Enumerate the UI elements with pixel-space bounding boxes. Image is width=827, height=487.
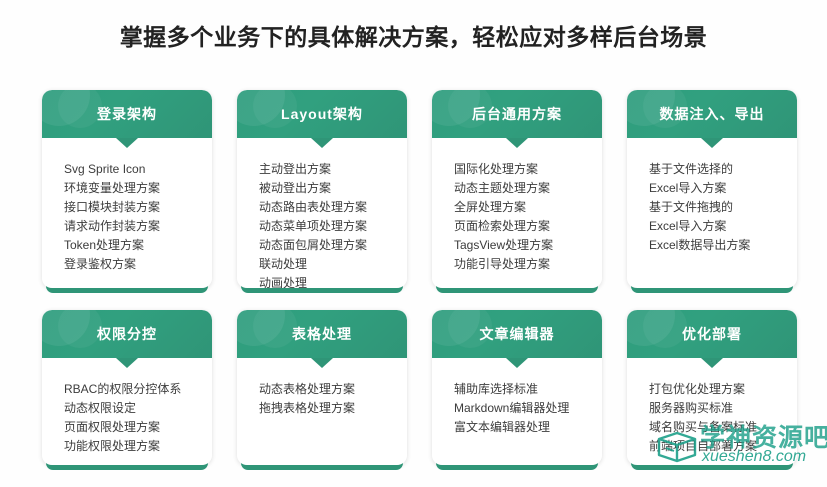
header-notch-icon xyxy=(311,138,333,148)
card-list-item: Token处理方案 xyxy=(64,236,212,255)
solution-card[interactable]: Layout架构主动登出方案被动登出方案动态路由表处理方案动态菜单项处理方案动态… xyxy=(237,90,407,288)
header-notch-icon xyxy=(116,138,138,148)
card-list-item: 动态面包屑处理方案 xyxy=(259,236,407,255)
card-list-item: 辅助库选择标准 xyxy=(454,380,602,399)
solution-card[interactable]: 登录架构Svg Sprite Icon环境变量处理方案接口模块封装方案请求动作封… xyxy=(42,90,212,288)
card-list-item: Excel数据导出方案 xyxy=(649,236,797,255)
solution-card[interactable]: 表格处理动态表格处理方案拖拽表格处理方案 xyxy=(237,310,407,465)
solution-card[interactable]: 文章编辑器辅助库选择标准Markdown编辑器处理富文本编辑器处理 xyxy=(432,310,602,465)
card-header: 后台通用方案 xyxy=(432,90,602,138)
card-list-item: 富文本编辑器处理 xyxy=(454,418,602,437)
card-list-item: 页面检索处理方案 xyxy=(454,217,602,236)
header-notch-icon xyxy=(506,358,528,368)
header-notch-icon xyxy=(701,138,723,148)
card-inner: 数据注入、导出基于文件选择的Excel导入方案基于文件拖拽的Excel导入方案E… xyxy=(627,90,797,288)
card-list-item: 服务器购买标准 xyxy=(649,399,797,418)
card-list-item: 全屏处理方案 xyxy=(454,198,602,217)
card-list-item: 动态权限设定 xyxy=(64,399,212,418)
header-notch-icon xyxy=(116,358,138,368)
card-list-item: 登录鉴权方案 xyxy=(64,255,212,274)
card-grid: 登录架构Svg Sprite Icon环境变量处理方案接口模块封装方案请求动作封… xyxy=(42,90,787,465)
card-list-item: 接口模块封装方案 xyxy=(64,198,212,217)
card-list-item: 被动登出方案 xyxy=(259,179,407,198)
card-body: 主动登出方案被动登出方案动态路由表处理方案动态菜单项处理方案动态面包屑处理方案联… xyxy=(237,138,407,288)
card-list-item: 基于文件拖拽的 xyxy=(649,198,797,217)
card-header: 文章编辑器 xyxy=(432,310,602,358)
card-list-item: 主动登出方案 xyxy=(259,160,407,179)
card-list-item: 拖拽表格处理方案 xyxy=(259,399,407,418)
solution-card[interactable]: 数据注入、导出基于文件选择的Excel导入方案基于文件拖拽的Excel导入方案E… xyxy=(627,90,797,288)
card-list-item: 国际化处理方案 xyxy=(454,160,602,179)
card-list-item: 页面权限处理方案 xyxy=(64,418,212,437)
card-list-item: 基于文件选择的 xyxy=(649,160,797,179)
card-title: 后台通用方案 xyxy=(432,90,602,138)
card-list-item: 域名购买与备案标准 xyxy=(649,418,797,437)
card-list-item: 动画处理 xyxy=(259,274,407,288)
card-title: 权限分控 xyxy=(42,310,212,358)
card-inner: Layout架构主动登出方案被动登出方案动态路由表处理方案动态菜单项处理方案动态… xyxy=(237,90,407,288)
card-title: 登录架构 xyxy=(42,90,212,138)
card-list-item: Excel导入方案 xyxy=(649,179,797,198)
card-header: 登录架构 xyxy=(42,90,212,138)
card-list-item: 功能权限处理方案 xyxy=(64,437,212,456)
card-inner: 后台通用方案国际化处理方案动态主题处理方案全屏处理方案页面检索处理方案TagsV… xyxy=(432,90,602,288)
card-list-item: TagsView处理方案 xyxy=(454,236,602,255)
card-body: 打包优化处理方案服务器购买标准域名购买与备案标准前端项目自部署方案 xyxy=(627,358,797,456)
card-list-item: 请求动作封装方案 xyxy=(64,217,212,236)
card-body: Svg Sprite Icon环境变量处理方案接口模块封装方案请求动作封装方案T… xyxy=(42,138,212,274)
card-inner: 权限分控RBAC的权限分控体系动态权限设定页面权限处理方案功能权限处理方案 xyxy=(42,310,212,465)
card-title: 优化部署 xyxy=(627,310,797,358)
card-list-item: Svg Sprite Icon xyxy=(64,160,212,179)
card-inner: 文章编辑器辅助库选择标准Markdown编辑器处理富文本编辑器处理 xyxy=(432,310,602,465)
card-list-item: 功能引导处理方案 xyxy=(454,255,602,274)
card-list-item: 联动处理 xyxy=(259,255,407,274)
card-list-item: 前端项目自部署方案 xyxy=(649,437,797,456)
card-title: 表格处理 xyxy=(237,310,407,358)
card-list-item: Markdown编辑器处理 xyxy=(454,399,602,418)
solution-card[interactable]: 优化部署打包优化处理方案服务器购买标准域名购买与备案标准前端项目自部署方案 xyxy=(627,310,797,465)
card-header: 优化部署 xyxy=(627,310,797,358)
card-list-item: 动态主题处理方案 xyxy=(454,179,602,198)
card-title: 数据注入、导出 xyxy=(627,90,797,138)
header-notch-icon xyxy=(506,138,528,148)
card-header: 权限分控 xyxy=(42,310,212,358)
infographic-page: 掌握多个业务下的具体解决方案，轻松应对多样后台场景 登录架构Svg Sprite… xyxy=(0,0,827,487)
card-header: Layout架构 xyxy=(237,90,407,138)
card-list-item: 动态菜单项处理方案 xyxy=(259,217,407,236)
header-notch-icon xyxy=(311,358,333,368)
card-inner: 优化部署打包优化处理方案服务器购买标准域名购买与备案标准前端项目自部署方案 xyxy=(627,310,797,465)
card-list-item: RBAC的权限分控体系 xyxy=(64,380,212,399)
solution-card[interactable]: 权限分控RBAC的权限分控体系动态权限设定页面权限处理方案功能权限处理方案 xyxy=(42,310,212,465)
card-inner: 表格处理动态表格处理方案拖拽表格处理方案 xyxy=(237,310,407,465)
header-notch-icon xyxy=(701,358,723,368)
card-header: 数据注入、导出 xyxy=(627,90,797,138)
card-title: Layout架构 xyxy=(237,90,407,138)
card-body: RBAC的权限分控体系动态权限设定页面权限处理方案功能权限处理方案 xyxy=(42,358,212,456)
card-body: 基于文件选择的Excel导入方案基于文件拖拽的Excel导入方案Excel数据导… xyxy=(627,138,797,255)
card-body: 国际化处理方案动态主题处理方案全屏处理方案页面检索处理方案TagsView处理方… xyxy=(432,138,602,274)
card-list-item: 打包优化处理方案 xyxy=(649,380,797,399)
card-list-item: 动态路由表处理方案 xyxy=(259,198,407,217)
card-list-item: Excel导入方案 xyxy=(649,217,797,236)
card-header: 表格处理 xyxy=(237,310,407,358)
card-title: 文章编辑器 xyxy=(432,310,602,358)
card-list-item: 动态表格处理方案 xyxy=(259,380,407,399)
page-title: 掌握多个业务下的具体解决方案，轻松应对多样后台场景 xyxy=(0,18,827,52)
solution-card[interactable]: 后台通用方案国际化处理方案动态主题处理方案全屏处理方案页面检索处理方案TagsV… xyxy=(432,90,602,288)
card-body: 辅助库选择标准Markdown编辑器处理富文本编辑器处理 xyxy=(432,358,602,437)
card-inner: 登录架构Svg Sprite Icon环境变量处理方案接口模块封装方案请求动作封… xyxy=(42,90,212,288)
card-list-item: 环境变量处理方案 xyxy=(64,179,212,198)
